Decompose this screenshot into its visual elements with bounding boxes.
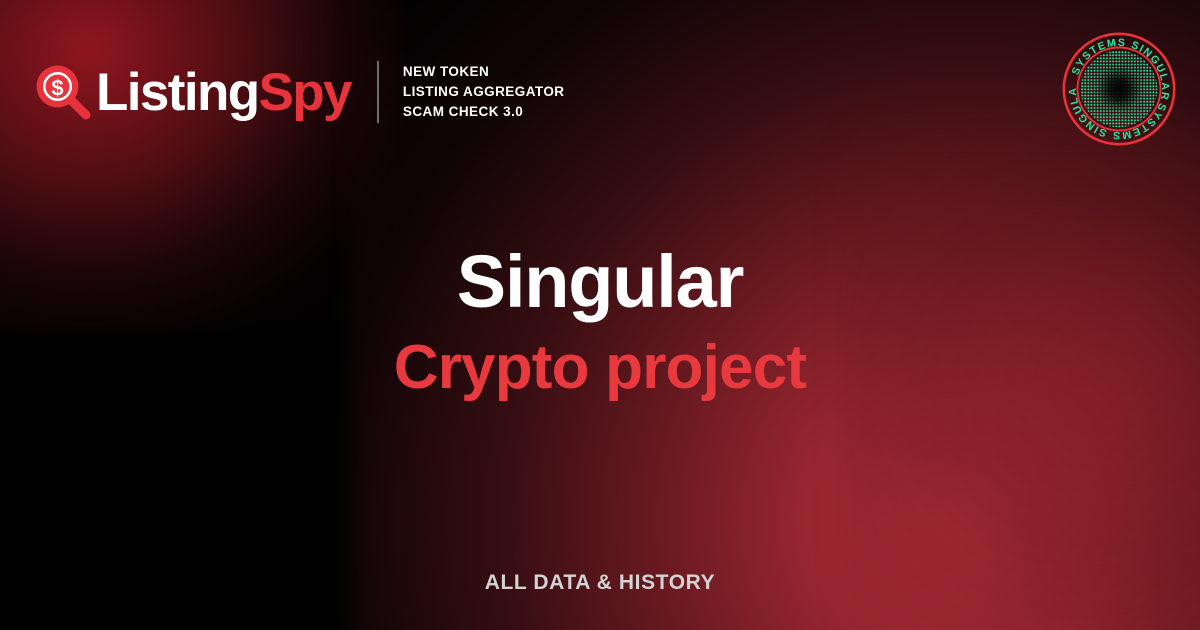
svg-text:$: $ (51, 75, 63, 100)
brand-tagline-line-2: LISTING AGGREGATOR (403, 82, 565, 102)
magnifier-dollar-icon: $ (34, 63, 92, 121)
brand-divider (377, 61, 379, 123)
brand-wordmark: ListingSpy (96, 66, 351, 119)
hero-block: Singular Crypto project (0, 244, 1200, 402)
brand-tagline: NEW TOKEN LISTING AGGREGATOR SCAM CHECK … (403, 62, 565, 122)
footer-note: ALL DATA & HISTORY (0, 571, 1200, 595)
og-card: $ ListingSpy NEW TOKEN LISTING AGGREGATO… (0, 0, 1200, 630)
brand-header[interactable]: $ ListingSpy NEW TOKEN LISTING AGGREGATO… (34, 54, 565, 130)
brand-tagline-line-1: NEW TOKEN (403, 62, 565, 82)
brand-tagline-line-3: SCAM CHECK 3.0 (403, 102, 565, 122)
page-subtitle: Crypto project (0, 335, 1200, 402)
singular-systems-logo-icon: SYSTEMS SINGULAR SYSTEMS SINGULAR (1062, 32, 1176, 146)
page-title: Singular (0, 244, 1200, 321)
brand-wordmark-spy: Spy (259, 63, 351, 122)
brand-wordmark-listing: Listing (96, 63, 259, 122)
